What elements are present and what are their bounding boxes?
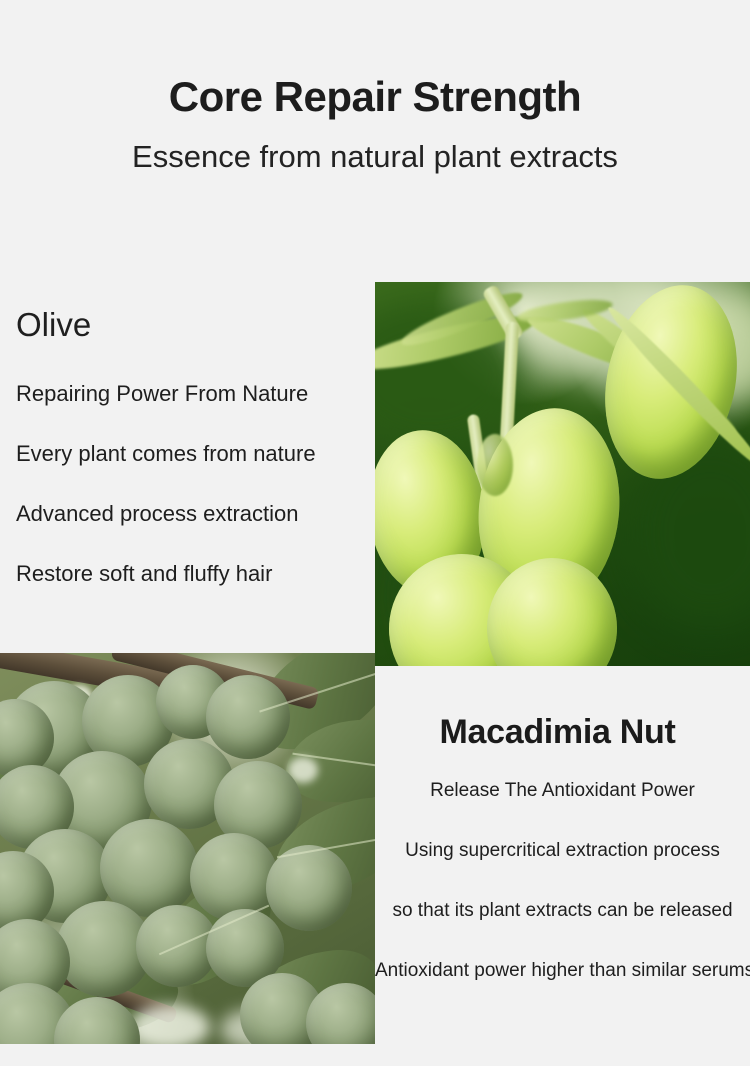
macadamia-nut-photo — [0, 653, 375, 1044]
list-item: Using supercritical extraction process — [375, 821, 750, 881]
olive-fruit — [477, 434, 513, 496]
page-title: Core Repair Strength — [0, 76, 750, 118]
header-banner: Core Repair Strength Essence from natura… — [0, 0, 750, 200]
light-gap — [130, 1005, 210, 1044]
macadamia-nut — [206, 675, 290, 759]
list-item: Advanced process extraction — [0, 484, 375, 544]
olive-benefit-list: Repairing Power From Nature Every plant … — [0, 364, 375, 604]
page-subtitle: Essence from natural plant extracts — [0, 140, 750, 174]
macadamia-text-panel: Macadimia Nut Release The Antioxidant Po… — [375, 653, 750, 1044]
section-heading-macadimia-nut: Macadimia Nut — [375, 715, 740, 749]
list-item: Release The Antioxidant Power — [375, 761, 750, 821]
section-macadimia-nut: Macadimia Nut Release The Antioxidant Po… — [0, 653, 750, 1044]
section-heading-olive: Olive — [16, 308, 356, 341]
list-item: Every plant comes from nature — [0, 424, 375, 484]
olive-fruit-photo — [375, 282, 750, 666]
macadamia-benefit-list: Release The Antioxidant Power Using supe… — [375, 761, 750, 1001]
list-item: Repairing Power From Nature — [0, 364, 375, 424]
list-item: Restore soft and fluffy hair — [0, 544, 375, 604]
macadamia-nut — [266, 845, 352, 931]
list-item: so that its plant extracts can be releas… — [375, 881, 750, 941]
list-item: Antioxidant power higher than similar se… — [375, 941, 750, 1001]
